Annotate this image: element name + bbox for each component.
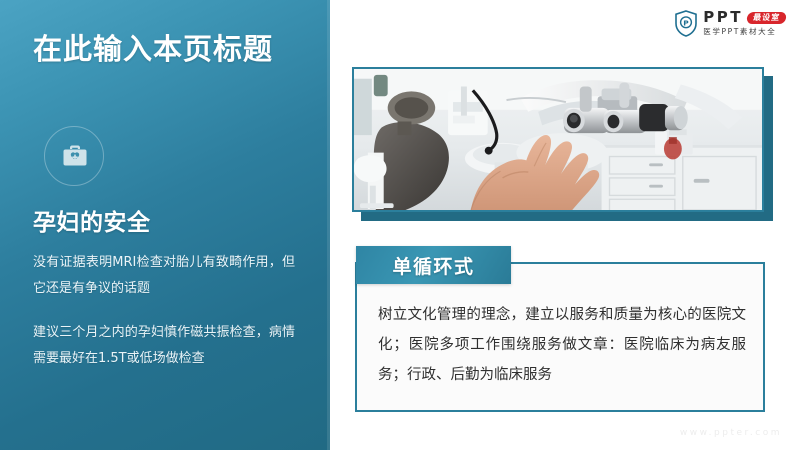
section-heading: 孕妇的安全 bbox=[33, 203, 151, 237]
medical-kit-icon bbox=[44, 126, 106, 188]
logo-badge: 最设室 bbox=[746, 12, 787, 24]
info-card-tab: 单循环式 bbox=[356, 246, 511, 284]
brand-logo[interactable]: P PPT 最设室 医学PPT素材大全 bbox=[674, 8, 786, 38]
left-paragraph-1: 没有证据表明MRI检查对胎儿有致畸作用，但它还是有争议的话题 bbox=[33, 250, 295, 302]
medical-kit-glyph bbox=[59, 140, 91, 172]
clinic-photo-image bbox=[354, 69, 762, 210]
left-paragraph-2: 建议三个月之内的孕妇慎作磁共振检查，病情需要最好在1.5T或低场做检查 bbox=[33, 320, 295, 372]
logo-text-block: PPT 最设室 医学PPT素材大全 bbox=[703, 10, 786, 36]
shield-icon: P bbox=[674, 10, 698, 37]
info-card-body: 树立文化管理的理念，建立以服务和质量为核心的医院文化；医院多项工作围绕服务做文章… bbox=[378, 300, 746, 390]
slide-canvas: 在此输入本页标题 孕妇的安全 没有证据表明MRI检查对胎儿有致畸作用，但它还是有… bbox=[0, 0, 800, 450]
logo-brand-text: PPT bbox=[703, 10, 743, 25]
svg-text:P: P bbox=[684, 18, 690, 27]
logo-subtitle: 医学PPT素材大全 bbox=[703, 28, 786, 36]
info-card-tab-label: 单循环式 bbox=[392, 252, 474, 279]
clinic-photo bbox=[352, 67, 764, 212]
page-title: 在此输入本页标题 bbox=[33, 26, 273, 68]
left-panel: 在此输入本页标题 孕妇的安全 没有证据表明MRI检查对胎儿有致畸作用，但它还是有… bbox=[0, 0, 330, 450]
watermark: www.ppter.com bbox=[680, 428, 782, 438]
logo-primary-row: PPT 最设室 bbox=[703, 10, 786, 25]
